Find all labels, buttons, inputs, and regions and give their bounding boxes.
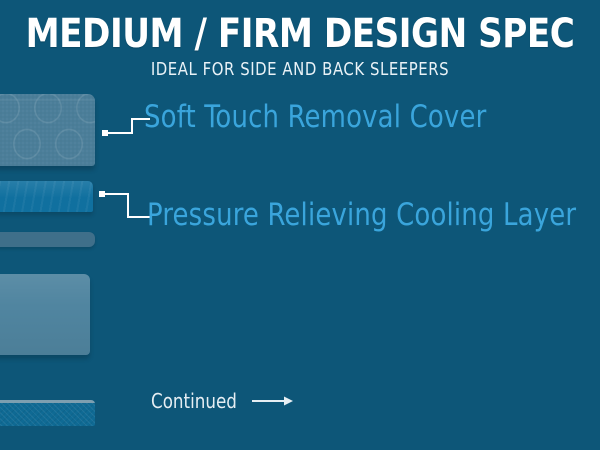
header: MEDIUM / FIRM DESIGN SPEC IDEAL FOR SIDE…: [0, 0, 600, 79]
foam-block-shading: [0, 274, 90, 355]
quilted-cover-layer: [0, 94, 95, 166]
callout-label-cover: Soft Touch Removal Cover: [144, 102, 486, 133]
page-title: MEDIUM / FIRM DESIGN SPEC: [15, 0, 585, 54]
callout-line-cooling: [104, 194, 152, 217]
continued-indicator[interactable]: Continued: [151, 391, 294, 411]
arrow-right-icon: [252, 394, 294, 408]
support-strip-layer: [0, 232, 95, 247]
callout-dot-cooling: [99, 191, 105, 197]
design-spec-infographic: MEDIUM / FIRM DESIGN SPEC IDEAL FOR SIDE…: [0, 0, 600, 450]
callout-label-cooling: Pressure Relieving Cooling Layer: [147, 200, 576, 231]
cooling-layer: [0, 181, 93, 212]
base-coil-layer: [0, 400, 95, 426]
cooling-layer-sheen: [0, 181, 93, 212]
continued-label: Continued: [151, 391, 237, 411]
base-layer-mesh-texture: [0, 403, 95, 426]
callout-dot-cover: [102, 130, 108, 136]
quilt-pattern-marks: [0, 94, 95, 166]
foam-block-layer: [0, 274, 90, 355]
page-subtitle: IDEAL FOR SIDE AND BACK SLEEPERS: [24, 54, 576, 79]
